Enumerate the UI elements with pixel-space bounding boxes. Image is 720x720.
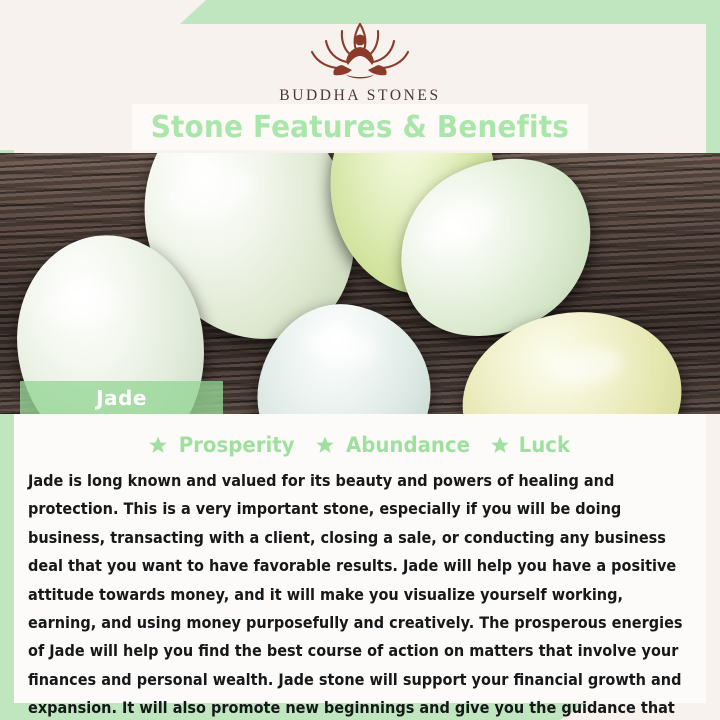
keyword-item-abundance: Abundance bbox=[315, 433, 474, 457]
page-title: Stone Features & Benefits bbox=[151, 110, 569, 145]
keyword-item-prosperity: Prosperity bbox=[148, 433, 298, 457]
keyword-list: Prosperity Abundance Luck bbox=[14, 414, 706, 460]
stone-description: Jade is long known and valued for its be… bbox=[28, 467, 694, 720]
star-icon bbox=[490, 435, 510, 455]
keyword-item-luck: Luck bbox=[490, 433, 572, 457]
keyword-label: Prosperity bbox=[179, 433, 295, 457]
lotus-meditation-icon bbox=[302, 18, 418, 84]
star-icon bbox=[315, 435, 335, 455]
star-icon bbox=[148, 435, 168, 455]
content-panel: Prosperity Abundance Luck Jade is long k… bbox=[14, 414, 706, 703]
brand-logo-block: BUDDHA STONES bbox=[0, 18, 720, 105]
stone-name-label: Jade bbox=[96, 386, 147, 410]
keyword-label: Luck bbox=[518, 433, 569, 457]
stone-info-poster: BUDDHA STONES Stone Features & Benefits … bbox=[0, 0, 720, 720]
stone-name-bar: Jade bbox=[20, 381, 223, 414]
title-banner: Stone Features & Benefits bbox=[132, 104, 588, 150]
keyword-label: Abundance bbox=[346, 433, 470, 457]
stone-photo bbox=[0, 153, 720, 414]
brand-wordmark: BUDDHA STONES bbox=[0, 87, 720, 105]
